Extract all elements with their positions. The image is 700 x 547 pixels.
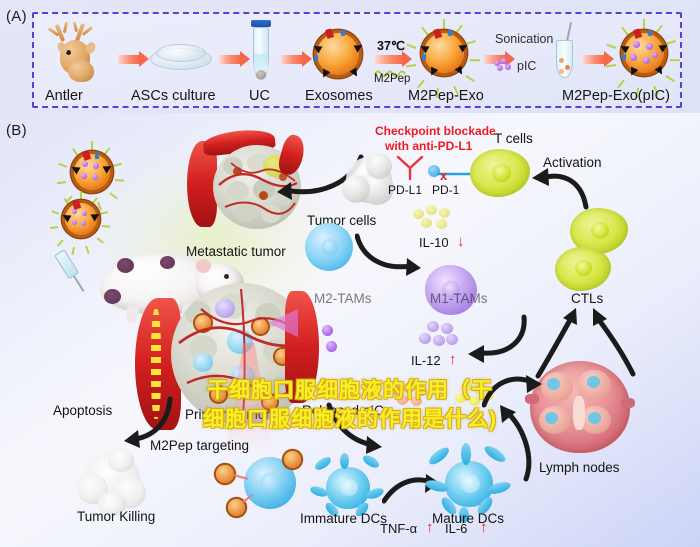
panel-b: Metastatic tumor Tumor cells Checkpoint … [0, 113, 700, 547]
m2pep-targeting-illustration [196, 451, 306, 521]
m2pep-exosome-pic-icon [613, 22, 675, 84]
mouse-tumor-spot-2 [104, 289, 121, 304]
arrow-il10-to-tam [355, 230, 423, 278]
mouse-tumor-spot-3 [160, 256, 175, 269]
deer-icon [48, 22, 120, 84]
panel-b-letter: (B) [6, 122, 27, 139]
il-12-direction-arrow: ↑ [449, 352, 457, 367]
step-label-antler: Antler [45, 88, 83, 104]
arrow-antler-to-asc [118, 55, 140, 64]
mature-dcs-label: Mature DCs [432, 511, 504, 526]
m2pep-label: M2Pep [374, 73, 410, 85]
il-10-direction-arrow: ↓ [457, 234, 465, 249]
m1-tams-label: M1-TAMs [430, 291, 488, 306]
step-label-exosomes: Exosomes [305, 88, 373, 104]
sonication-label: Sonication [495, 32, 553, 46]
tnf-alpha-dot-cluster [390, 383, 430, 409]
immature-dcs-label: Immature DCs [300, 511, 387, 526]
apoptosis-label: Apoptosis [53, 403, 112, 418]
t-cell-illustration [470, 149, 530, 197]
exosome-free-2 [55, 193, 107, 245]
sonication-tube-icon [551, 22, 577, 84]
syringe-icon [47, 242, 102, 302]
m2-tam-cell [305, 223, 353, 271]
arrow-il12-loop [462, 313, 532, 365]
centrifuge-tube-icon [250, 20, 272, 82]
pd1-label: PD-1 [432, 183, 459, 197]
il-10-label: IL-10 [419, 235, 449, 250]
m1-tam-cell [425, 265, 477, 315]
arrow-apoptosis [122, 395, 178, 451]
lymph-nodes-label: Lymph nodes [539, 460, 620, 475]
metastatic-tumor-label: Metastatic tumor [186, 244, 286, 259]
tumor-killing-label: Tumor Killing [77, 509, 155, 524]
il-12-dot-cluster [417, 321, 459, 351]
ctls-label: CTLs [571, 291, 603, 306]
t-cells-label: T cells [494, 131, 533, 146]
temperature-label: 37℃ [377, 38, 405, 53]
arrow-uc-to-exosomes [281, 55, 303, 64]
arrow-exosomes-to-m2pep [375, 55, 403, 64]
panel-a-letter: (A) [6, 8, 27, 25]
petri-dish-icon [150, 44, 212, 74]
ctl-cell-2 [555, 247, 611, 291]
arrow-pic-to-immature-dc [325, 401, 385, 459]
mouse-tumor-spot-1 [117, 258, 134, 273]
il-10-dot-cluster [413, 205, 453, 233]
checkpoint-title-line1: Checkpoint blockade [375, 124, 496, 138]
checkpoint-title-line2: with anti-PD-L1 [385, 139, 472, 153]
blockade-x-mark: x [440, 169, 447, 182]
exosome-icon [311, 27, 365, 81]
step-label-m2pep-exo: M2Pep-Exo [408, 88, 484, 104]
panel-a: (A) Antler ASCs culture [0, 0, 700, 113]
pic-label-a: pIC [517, 59, 536, 73]
apoptotic-cell-illustration [78, 448, 150, 518]
mouse-ear [196, 259, 211, 273]
il-12-label: IL-12 [411, 353, 441, 368]
scientific-figure: (A) Antler ASCs culture [0, 0, 700, 547]
step-label-m2pep-exo-pic: M2Pep-Exo(pIC) [562, 88, 670, 104]
pdl1-label: PD-L1 [388, 183, 422, 197]
m2pep-squiggle-icon [374, 64, 408, 72]
arrow-asc-to-uc [219, 55, 241, 64]
m2pep-exosome-icon [413, 22, 475, 84]
arrow-sonication-to-product [583, 55, 605, 64]
step-label-asc-culture: ASCs culture [131, 88, 216, 104]
targeting-triangle [268, 309, 298, 337]
pic-dot-cluster-a [494, 58, 514, 72]
step-label-uc: UC [249, 88, 270, 104]
